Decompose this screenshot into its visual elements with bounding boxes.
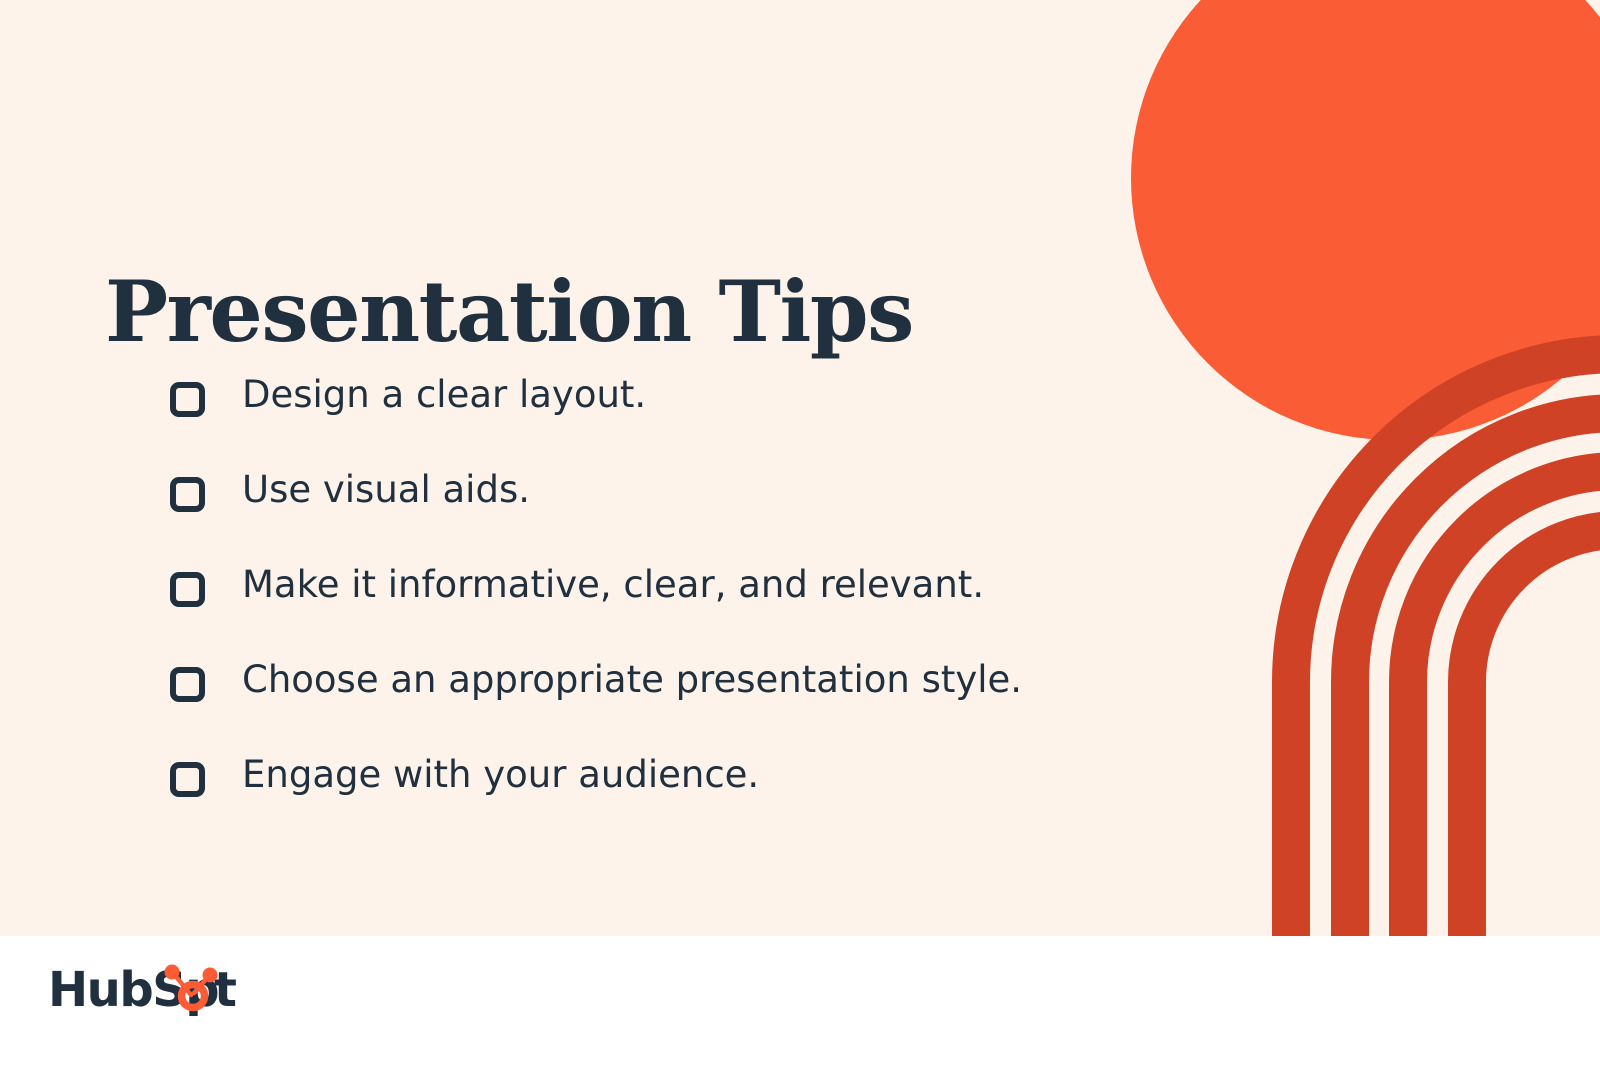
arch-stripe-2 — [1350, 413, 1600, 936]
slide-canvas: Presentation Tips Design a clear layout.… — [0, 0, 1600, 936]
checklist: Design a clear layout. Use visual aids. … — [170, 372, 1210, 847]
checkbox-icon[interactable] — [170, 477, 205, 512]
list-item-label: Engage with your audience. — [242, 752, 759, 798]
checkbox-icon[interactable] — [170, 667, 205, 702]
hubspot-logo[interactable]: HubSpot HubSp t — [48, 962, 244, 1016]
svg-text:t: t — [214, 962, 236, 1016]
checkbox-icon[interactable] — [170, 762, 205, 797]
list-item-label: Design a clear layout. — [242, 372, 646, 418]
list-item[interactable]: Engage with your audience. — [170, 752, 1210, 847]
list-item[interactable]: Use visual aids. — [170, 467, 1210, 562]
list-item[interactable]: Make it informative, clear, and relevant… — [170, 562, 1210, 657]
list-item-label: Use visual aids. — [242, 467, 530, 513]
checkbox-icon[interactable] — [170, 382, 205, 417]
arch-stripe-3 — [1408, 471, 1600, 936]
list-item[interactable]: Design a clear layout. — [170, 372, 1210, 467]
list-item-label: Make it informative, clear, and relevant… — [242, 562, 984, 608]
checkbox-icon[interactable] — [170, 572, 205, 607]
list-item[interactable]: Choose an appropriate presentation style… — [170, 657, 1210, 752]
arch-stripes-group — [1291, 354, 1600, 936]
page-title: Presentation Tips — [105, 270, 913, 354]
arch-stripe-4 — [1467, 530, 1600, 936]
slide-root: Presentation Tips Design a clear layout.… — [0, 0, 1600, 1066]
list-item-label: Choose an appropriate presentation style… — [242, 657, 1022, 703]
arch-stripe-1 — [1291, 354, 1600, 936]
hubspot-wordmark-icon: HubSp t — [48, 962, 244, 1016]
